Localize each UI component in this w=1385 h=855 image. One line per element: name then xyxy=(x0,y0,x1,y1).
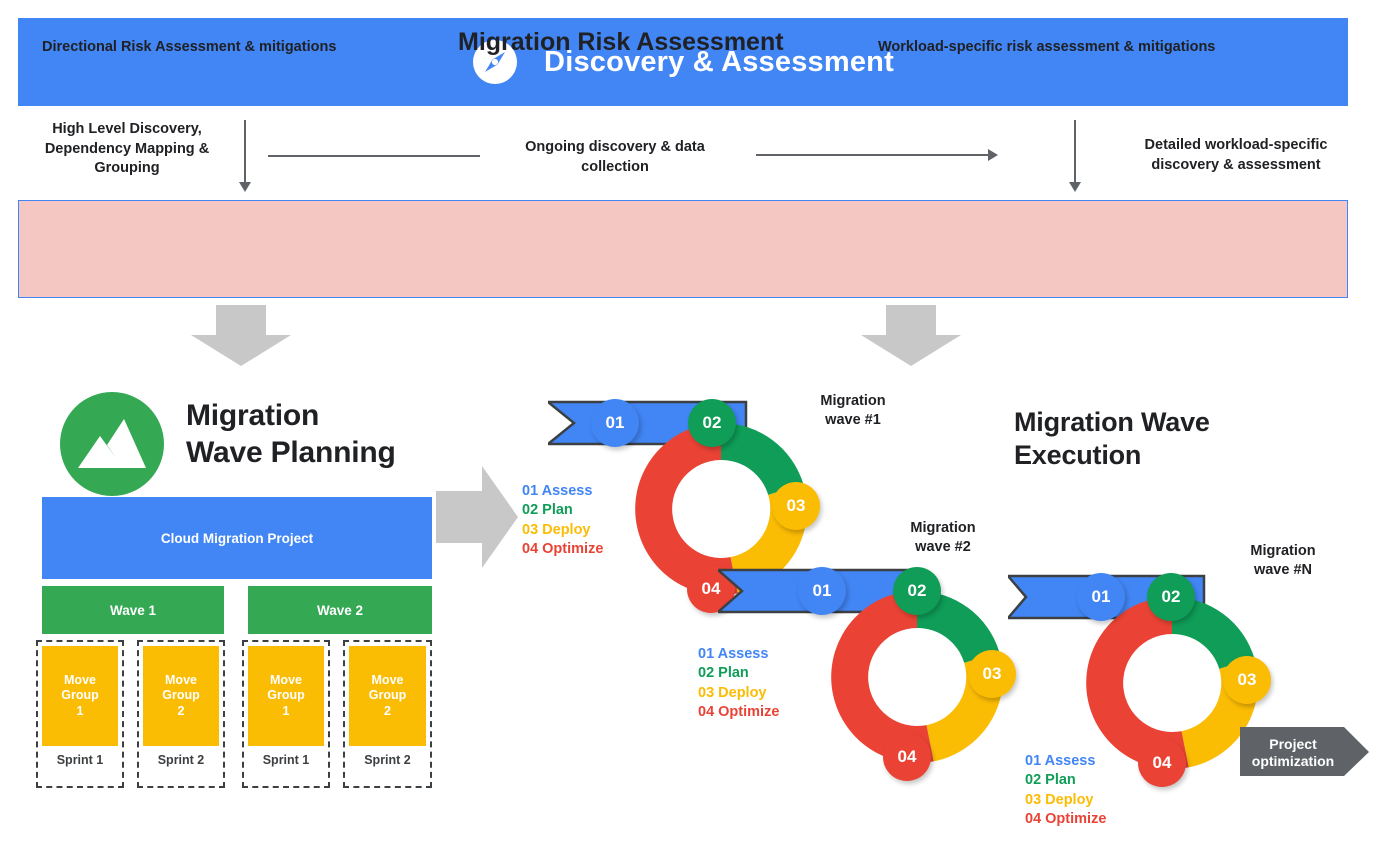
wave-1-badge-03[interactable]: 03 xyxy=(772,482,820,530)
move-group-3-line3: 1 xyxy=(267,704,305,720)
wave-n-legend: 01 Assess 02 Plan 03 Deploy 04 Optimize xyxy=(1025,752,1106,830)
move-group-4-line3: 2 xyxy=(369,704,407,720)
wave-n-badge-04[interactable]: 04 xyxy=(1138,739,1186,787)
left-connector-line2: Dependency Mapping & xyxy=(22,140,232,160)
wave-1-legend-01: 01 Assess xyxy=(522,482,603,501)
wave-1-legend-02: 02 Plan xyxy=(522,501,603,520)
move-group-3-line2: Group xyxy=(267,688,305,704)
move-group-2-line2: Group xyxy=(162,688,200,704)
sprint-label-4: Sprint 2 xyxy=(343,753,432,767)
wave-2-badge-03[interactable]: 03 xyxy=(968,650,1016,698)
left-connector-line1: High Level Discovery, xyxy=(22,120,232,140)
project-optimization-line1: Project xyxy=(1240,736,1346,753)
wave-2-legend-04: 04 Optimize xyxy=(698,703,779,722)
wave-2-badge-01[interactable]: 01 xyxy=(798,567,846,615)
wave-n-badge-03[interactable]: 03 xyxy=(1223,656,1271,704)
project-optimization-line2: optimization xyxy=(1240,753,1346,770)
center-right-arrow xyxy=(756,149,998,161)
wave-2-caption-line2: wave #2 xyxy=(888,538,998,557)
mountain-icon xyxy=(60,392,164,501)
move-group-box-1[interactable]: Move Group 1 xyxy=(42,646,118,746)
wave-n-caption-line1: Migration xyxy=(1228,542,1338,561)
migration-risk-title: Migration Risk Assessment xyxy=(458,28,784,57)
wave-2-legend-01: 01 Assess xyxy=(698,645,779,664)
wave-2-badge-02[interactable]: 02 xyxy=(893,567,941,615)
left-connector-line3: Grouping xyxy=(22,159,232,179)
wave-n-caption-line2: wave #N xyxy=(1228,561,1338,580)
left-connector-label: High Level Discovery, Dependency Mapping… xyxy=(22,120,232,179)
wave-n-legend-02: 02 Plan xyxy=(1025,771,1106,790)
wave-1-caption-line2: wave #1 xyxy=(798,411,908,430)
wave-1-box[interactable]: Wave 1 xyxy=(42,586,224,634)
wave-1-caption: Migration wave #1 xyxy=(798,392,908,430)
move-group-box-3[interactable]: Move Group 1 xyxy=(248,646,324,746)
wave-2-badge-04[interactable]: 04 xyxy=(883,733,931,781)
cloud-migration-project-box[interactable]: Cloud Migration Project xyxy=(42,497,432,579)
execution-flow-arrow-icon xyxy=(858,305,964,372)
move-group-3-line1: Move xyxy=(267,673,305,689)
execution-title-line2: Execution xyxy=(1014,439,1210,472)
wave-2-box[interactable]: Wave 2 xyxy=(248,586,432,634)
planning-flow-arrow-icon xyxy=(188,305,294,372)
planning-title: Migration Wave Planning xyxy=(186,398,396,471)
wave-1-legend-03: 03 Deploy xyxy=(522,521,603,540)
sprint-label-1: Sprint 1 xyxy=(36,753,124,767)
planning-to-execution-arrow-icon xyxy=(436,463,520,576)
wave-n-legend-03: 03 Deploy xyxy=(1025,791,1106,810)
planning-title-line2: Wave Planning xyxy=(186,435,396,472)
project-optimization-label: Project optimization xyxy=(1240,736,1346,770)
right-connector-line1: Detailed workload-specific xyxy=(1112,136,1360,156)
sprint-label-2: Sprint 2 xyxy=(137,753,225,767)
wave-n-badge-01[interactable]: 01 xyxy=(1077,573,1125,621)
center-connector-line2: collection xyxy=(490,158,740,178)
move-group-2-line3: 2 xyxy=(162,704,200,720)
wave-2-caption: Migration wave #2 xyxy=(888,519,998,557)
migration-risk-band xyxy=(18,200,1348,298)
wave-n-legend-04: 04 Optimize xyxy=(1025,810,1106,829)
wave-n-badge-02[interactable]: 02 xyxy=(1147,573,1195,621)
move-group-1-line2: Group xyxy=(61,688,99,704)
wave-1-badge-01[interactable]: 01 xyxy=(591,399,639,447)
center-connector-line1: Ongoing discovery & data xyxy=(490,138,740,158)
right-connector-line2: discovery & assessment xyxy=(1112,156,1360,176)
move-group-box-2[interactable]: Move Group 2 xyxy=(143,646,219,746)
left-down-arrow xyxy=(239,120,251,192)
wave-2-legend-03: 03 Deploy xyxy=(698,684,779,703)
planning-title-line1: Migration xyxy=(186,398,396,435)
diagram-canvas: Discovery & Assessment High Level Discov… xyxy=(0,0,1385,855)
move-group-2-line1: Move xyxy=(162,673,200,689)
wave-2-caption-line1: Migration xyxy=(888,519,998,538)
center-connector-label: Ongoing discovery & data collection xyxy=(490,138,740,177)
wave-n-caption: Migration wave #N xyxy=(1228,542,1338,580)
execution-title: Migration Wave Execution xyxy=(1014,406,1210,472)
execution-title-line1: Migration Wave xyxy=(1014,406,1210,439)
move-group-4-line2: Group xyxy=(369,688,407,704)
wave-1-legend-04: 04 Optimize xyxy=(522,540,603,559)
wave-1-caption-line1: Migration xyxy=(798,392,908,411)
wave-n-legend-01: 01 Assess xyxy=(1025,752,1106,771)
sprint-label-3: Sprint 1 xyxy=(242,753,330,767)
move-group-1-line1: Move xyxy=(61,673,99,689)
wave-2-legend-02: 02 Plan xyxy=(698,664,779,683)
wave-2-legend: 01 Assess 02 Plan 03 Deploy 04 Optimize xyxy=(698,645,779,723)
move-group-box-4[interactable]: Move Group 2 xyxy=(349,646,426,746)
move-group-4-line1: Move xyxy=(369,673,407,689)
move-group-1-line3: 1 xyxy=(61,704,99,720)
right-connector-label: Detailed workload-specific discovery & a… xyxy=(1112,136,1360,175)
right-down-arrow xyxy=(1069,120,1081,192)
workload-risk-label: Workload-specific risk assessment & miti… xyxy=(878,39,1215,55)
wave-1-badge-02[interactable]: 02 xyxy=(688,399,736,447)
directional-risk-label: Directional Risk Assessment & mitigation… xyxy=(42,39,336,55)
left-connector-rule xyxy=(268,155,480,157)
wave-1-legend: 01 Assess 02 Plan 03 Deploy 04 Optimize xyxy=(522,482,603,560)
